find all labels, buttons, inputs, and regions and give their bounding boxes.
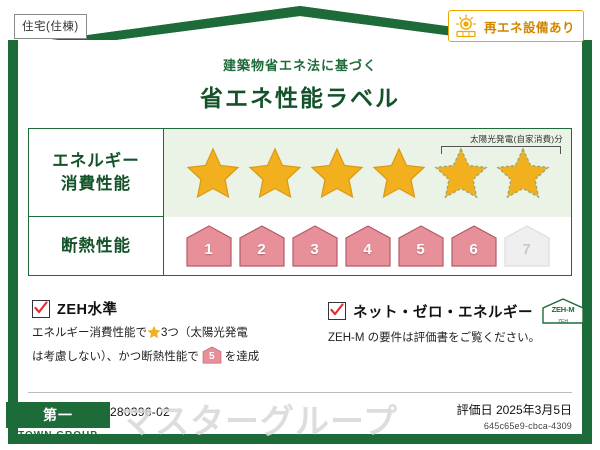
checkbox-checked-icon[interactable] xyxy=(32,300,50,318)
star-icon xyxy=(308,145,366,201)
house-type-badge: 住宅(住棟) xyxy=(14,14,87,39)
zeh-m-badge-label: ZEH-M xyxy=(541,305,585,314)
grade-chip-label: 6 xyxy=(449,224,499,268)
grade-chip-label: 2 xyxy=(237,224,287,268)
row-label-energy-performance: エネルギー 消費性能 xyxy=(29,129,164,216)
star-icon xyxy=(246,145,304,201)
star-icon xyxy=(184,145,242,201)
zeh-m-badge-sub: ZEH xyxy=(541,319,585,325)
performance-table: エネルギー 消費性能 太陽光発電(自家消費)分 xyxy=(28,128,572,276)
grade-chip-inactive: 7 xyxy=(502,224,552,268)
grade-chip-inline: 5 xyxy=(199,346,225,364)
evaluation-date-label: 評価日 xyxy=(457,403,493,417)
row-label-line1: エネルギー xyxy=(52,150,140,172)
grade-chip-label: 1 xyxy=(184,224,234,268)
title-subtitle: 建築物省エネ法に基づく xyxy=(0,55,600,74)
footer-left: 第三者評価 20280396-02 xyxy=(28,403,170,420)
solar-bracket xyxy=(441,146,561,154)
evaluation-code: 645c65e9-cbca-4309 xyxy=(457,421,572,431)
check-net-zero-description: ZEH-M の要件は評価書をご覧ください。 xyxy=(328,330,578,348)
page-title: 建築物省エネ法に基づく 省エネ性能ラベル xyxy=(0,55,600,113)
insulation-performance-value: 1 2 3 4 5 xyxy=(164,217,571,275)
energy-performance-value: 太陽光発電(自家消費)分 xyxy=(164,129,571,217)
title-main: 省エネ性能ラベル xyxy=(0,79,600,113)
grade-chip: 4 xyxy=(343,224,393,268)
grade-chip-label: 5 xyxy=(396,224,446,268)
check-zeh-desc-4: を達成 xyxy=(225,351,260,363)
renewable-badge-label: 再エネ設備あり xyxy=(484,17,575,36)
row-label-line2: 消費性能 xyxy=(52,173,140,195)
table-row: 断熱性能 1 2 3 xyxy=(29,217,571,275)
check-net-zero: ネット・ゼロ・エネルギー ZEH-M ZEH ZEH-M の要件は評価書をご覧く… xyxy=(328,298,578,348)
check-net-zero-head: ネット・ゼロ・エネルギー ZEH-M ZEH xyxy=(328,298,578,324)
table-row: エネルギー 消費性能 太陽光発電(自家消費)分 xyxy=(29,129,571,217)
grade-chip: 5 xyxy=(396,224,446,268)
zeh-m-badge-icon: ZEH-M ZEH xyxy=(541,298,585,324)
checkbox-checked-icon[interactable] xyxy=(328,302,346,320)
grade-chip-inline-label: 5 xyxy=(199,346,225,364)
footer: 第三者評価 20280396-02 評価日 2025年3月5日 645c65e9… xyxy=(28,392,572,436)
checks-section: ZEH水準 エネルギー消費性能で3つ（太陽光発電 は考慮しない）、かつ断熱性能で… xyxy=(28,298,572,360)
check-zeh-title: ZEH水準 xyxy=(57,298,118,319)
grade-chip: 6 xyxy=(449,224,499,268)
evaluation-date: 評価日 2025年3月5日 xyxy=(457,401,572,418)
row-label-insulation-performance: 断熱性能 xyxy=(29,217,164,275)
grade-chip: 1 xyxy=(184,224,234,268)
star-icon xyxy=(370,145,428,201)
grade-chip-label: 3 xyxy=(290,224,340,268)
third-party-eval-number: 20280396-02 xyxy=(96,405,170,419)
energy-label-page: 住宅(住棟) 再エネ設備あり 建築物省エネ法に基づく 省エ xyxy=(0,0,600,450)
insulation-grade-scale: 1 2 3 4 5 xyxy=(164,217,571,275)
check-zeh-desc-3: は考慮しない）、かつ断熱性能で xyxy=(32,351,199,363)
check-zeh-head: ZEH水準 xyxy=(32,298,312,319)
renewable-equipment-badge: 再エネ設備あり xyxy=(448,10,584,42)
grade-chip: 3 xyxy=(290,224,340,268)
grade-chip: 2 xyxy=(237,224,287,268)
evaluation-date-value: 2025年3月5日 xyxy=(496,403,572,417)
check-zeh: ZEH水準 エネルギー消費性能で3つ（太陽光発電 は考慮しない）、かつ断熱性能で… xyxy=(32,298,312,367)
check-zeh-desc-2: 3つ（太陽光発電 xyxy=(161,327,248,339)
star-icon-inline xyxy=(147,325,161,346)
footer-right: 評価日 2025年3月5日 645c65e9-cbca-4309 xyxy=(457,401,572,431)
third-party-eval-label: 第三者評価 xyxy=(28,403,88,420)
sun-icon xyxy=(453,13,479,39)
grade-chip-label: 4 xyxy=(343,224,393,268)
check-net-zero-title: ネット・ゼロ・エネルギー xyxy=(353,301,533,322)
check-zeh-desc-1: エネルギー消費性能で xyxy=(32,327,147,339)
grade-chip-label: 7 xyxy=(502,224,552,268)
check-zeh-description: エネルギー消費性能で3つ（太陽光発電 は考慮しない）、かつ断熱性能で5を達成 xyxy=(32,325,312,367)
solar-note-label: 太陽光発電(自家消費)分 xyxy=(470,133,563,145)
